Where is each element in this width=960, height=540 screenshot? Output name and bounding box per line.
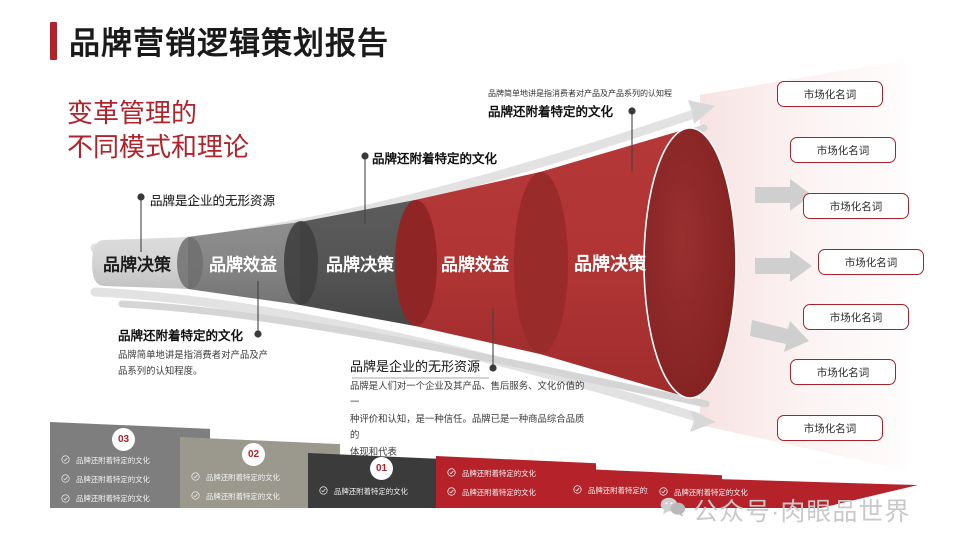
card-item-label: 品牌还附着特定的文化 (76, 495, 150, 502)
card-item-label: 品牌还附着特定的文化 (334, 488, 408, 495)
callout-dot-b (361, 152, 368, 159)
card-item-label: 品牌还附着特定的文化 (462, 489, 536, 496)
callout-brand-intangible-top: 品牌是企业的无形资源 (150, 190, 275, 209)
right-box-2[interactable]: 市场化名词 (790, 137, 896, 163)
card-badge: 01 (370, 457, 393, 480)
card-item: 品牌还附着特定的文化 (447, 487, 536, 497)
callout-brand-culture-lower: 品牌还附着特定的文化 品牌简单地讲是指消费者对产品及产 品系列的认知程度。 (118, 325, 278, 380)
check-circle-icon (191, 491, 200, 501)
check-circle-icon (61, 494, 70, 504)
callout-brand-culture-mid: 品牌还附着特定的文化 (372, 148, 497, 167)
card-item-label: 品牌还附着特定的文化 (462, 470, 536, 477)
callout-title: 品牌还附着特定的文化 (372, 148, 497, 167)
callout-dot-a (137, 193, 144, 200)
card-item: 品牌还附着特定的文化 (61, 494, 150, 504)
funnel-joint-1 (177, 237, 203, 289)
callout-title: 品牌还附着特定的文化 (118, 325, 278, 344)
funnel-label-1: 品牌决策 (103, 251, 171, 276)
right-box-5[interactable]: 市场化名词 (803, 304, 909, 330)
check-circle-icon (447, 487, 456, 497)
right-box-1[interactable]: 市场化名词 (777, 81, 883, 107)
funnel-label-4: 品牌效益 (441, 251, 509, 276)
funnel-joint-2 (284, 221, 318, 305)
callout-title: 品牌还附着特定的文化 (488, 101, 672, 120)
check-circle-icon (573, 485, 582, 495)
funnel-mouth (644, 128, 736, 398)
callout-body: 品牌简单地讲是指消费者对产品及产 品系列的认知程度。 (118, 347, 278, 380)
card-item: 品牌还附着特定的文化 (61, 474, 150, 484)
card-item-label: 品牌还附着特定的文化 (76, 476, 150, 483)
callout-title: 品牌是企业的无形资源 (350, 356, 592, 375)
right-box-6[interactable]: 市场化名词 (790, 359, 896, 385)
funnel-label-2: 品牌效益 (209, 251, 277, 276)
check-circle-icon (191, 472, 200, 482)
funnel-label-5: 品牌决策 (574, 250, 646, 276)
card-item: 品牌还附着特定的文化 (191, 491, 280, 501)
right-box-3[interactable]: 市场化名词 (803, 193, 909, 219)
funnel-joint-4 (514, 172, 568, 354)
check-circle-icon (319, 486, 328, 496)
check-circle-icon (61, 455, 70, 465)
watermark: 公众号·肉眼品世界 (660, 492, 910, 528)
card-badge: 02 (242, 443, 265, 466)
right-box-4[interactable]: 市场化名词 (818, 249, 924, 275)
card-item-label: 品牌还附着特定的文化 (206, 493, 280, 500)
wechat-icon (660, 496, 686, 525)
callout-subtext: 品牌简单地讲是指消费者对产品及产品系列的认知程 (488, 88, 672, 99)
check-circle-icon (447, 468, 456, 478)
funnel-joint-3 (395, 200, 437, 326)
card-badge: 03 (112, 428, 135, 451)
card-item-label: 品牌还附着特定的文化 (206, 474, 280, 481)
card-item: 品牌还附着特定的文化 (447, 468, 536, 478)
callout-title: 品牌是企业的无形资源 (150, 190, 275, 209)
card-item: 品牌还附着特定的文化 (191, 472, 280, 482)
card-item: 品牌还附着特定的文化 (319, 486, 408, 496)
funnel-label-3: 品牌决策 (326, 251, 394, 276)
watermark-text: 公众号·肉眼品世界 (693, 492, 910, 528)
card-item: 品牌还附着特定的文化 (61, 455, 150, 465)
card-item-label: 品牌还附着特定的文化 (76, 457, 150, 464)
slide-canvas: 品牌营销逻辑策划报告 变革管理的 不同模式和理论 (0, 0, 960, 540)
callout-brand-culture-top: 品牌简单地讲是指消费者对产品及产品系列的认知程 品牌还附着特定的文化 (488, 88, 672, 120)
check-circle-icon (61, 474, 70, 484)
